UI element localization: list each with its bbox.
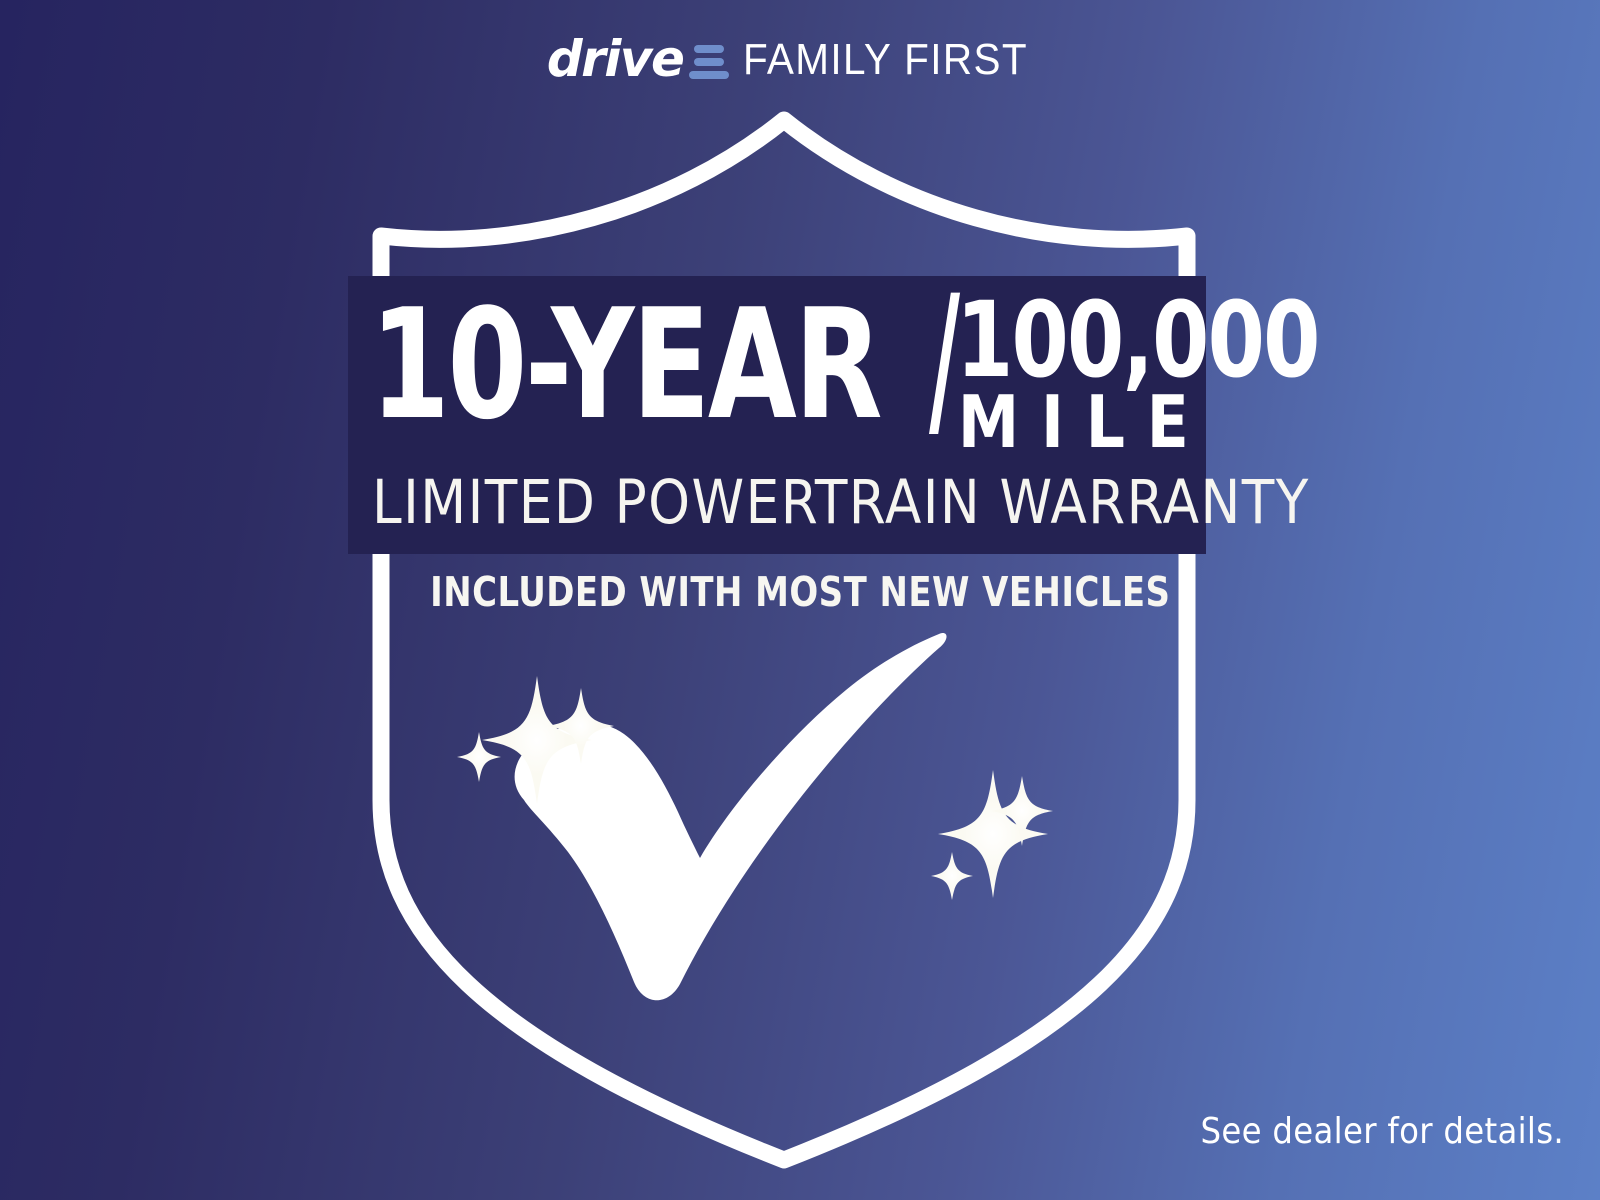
subheading: INCLUDED WITH MOST NEW VEHICLES: [0, 568, 1600, 616]
brand-lockup: drive FAMILY FIRST: [0, 30, 1600, 90]
bar-bottom: [689, 71, 729, 79]
warranty-banner: 10-YEAR / 100,000 MILE LIMITED POWERTRAI…: [348, 276, 1206, 554]
subheading-text: INCLUDED WITH MOST NEW VEHICLES: [430, 568, 1170, 616]
checkmark-icon: [515, 633, 947, 1000]
brand-wordmark: drive: [547, 34, 684, 84]
sparkle-star-icon: [931, 770, 1053, 900]
brand-tagline: FAMILY FIRST: [743, 38, 1028, 82]
bar-top: [694, 45, 724, 53]
years-value: 10-YEAR: [370, 290, 880, 440]
warranty-description: LIMITED POWERTRAIN WARRANTY: [372, 472, 1310, 534]
bar-middle: [694, 58, 724, 66]
promo-graphic: drive FAMILY FIRST 10-YEAR / 100,000 MIL…: [0, 0, 1600, 1200]
three-bars-icon: [689, 45, 729, 79]
disclaimer-text: See dealer for details.: [1201, 1111, 1564, 1152]
miles-unit: MILE: [956, 384, 1348, 460]
headline-row: 10-YEAR / 100,000 MILE: [370, 290, 1190, 462]
miles-number: 100,000: [956, 296, 1319, 384]
miles-block: 100,000 MILE: [956, 290, 1368, 460]
